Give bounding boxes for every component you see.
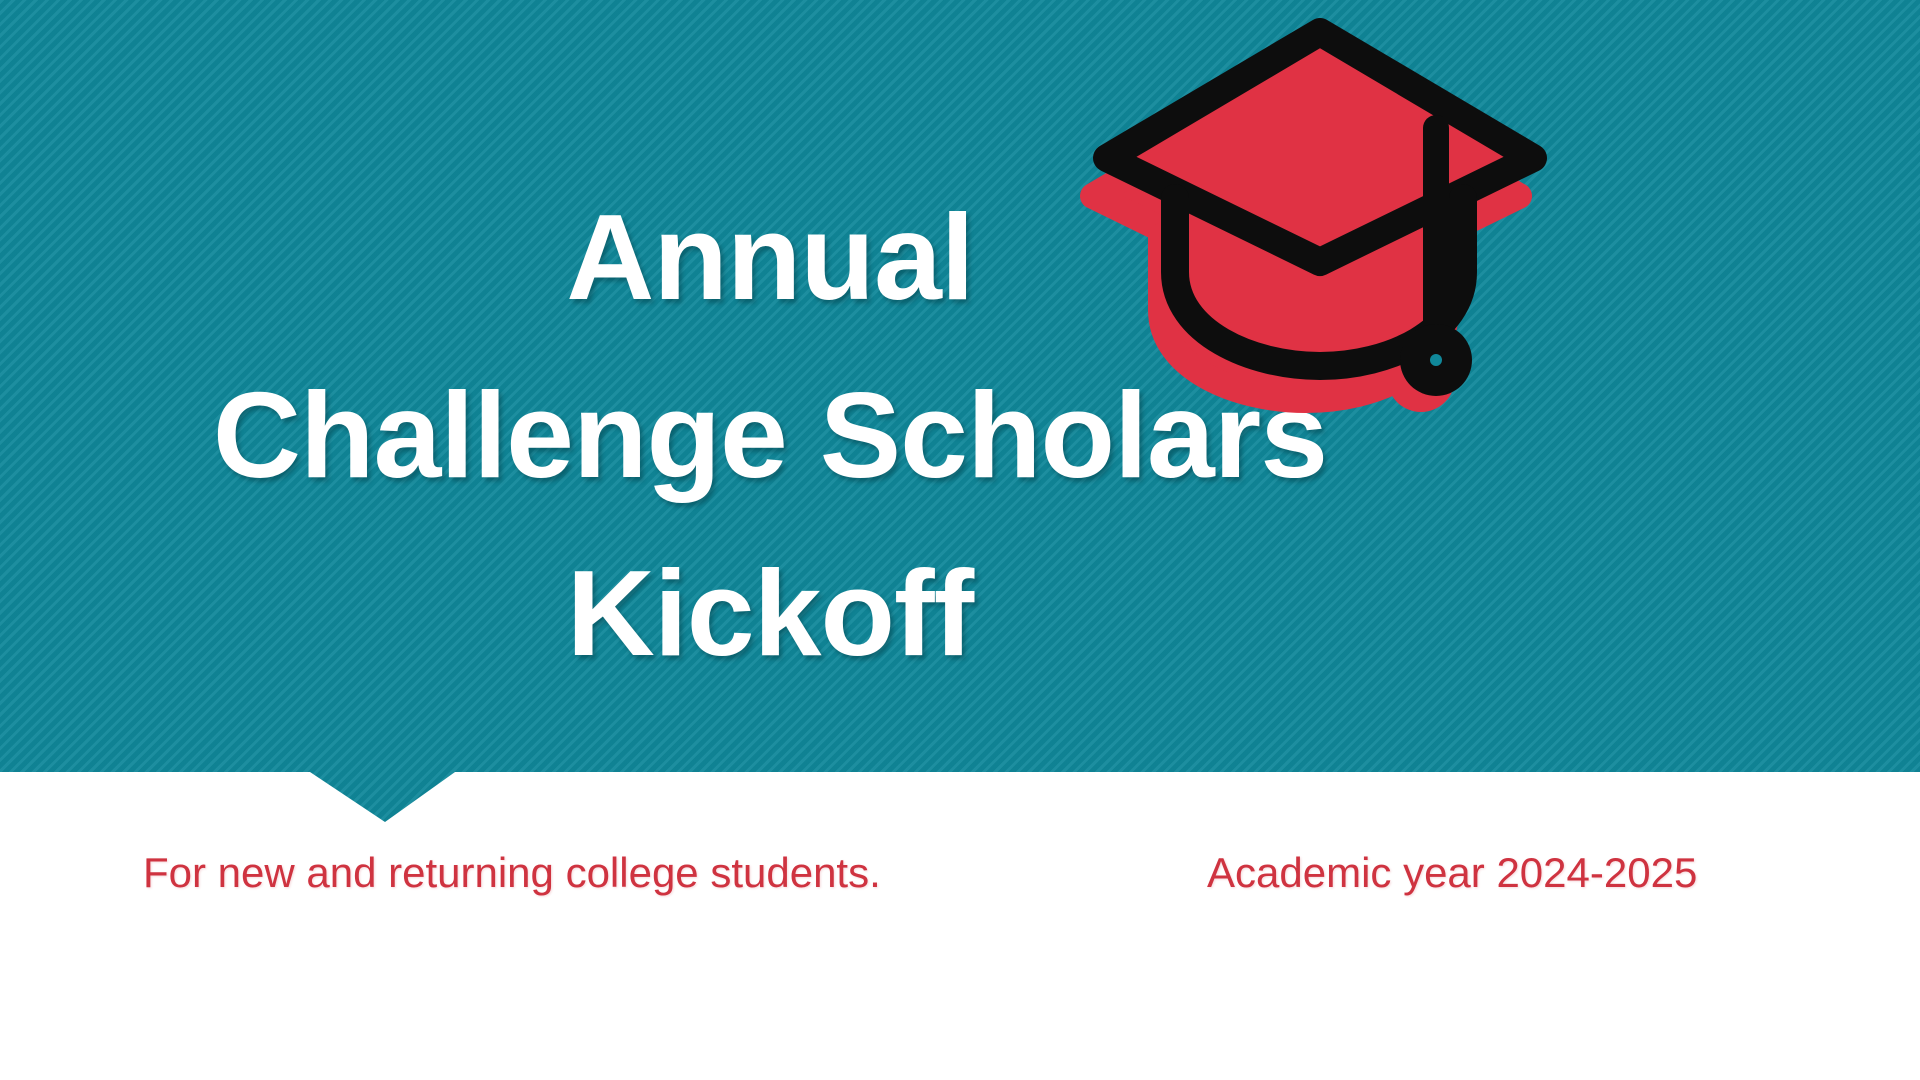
presentation-slide: Annual Challenge Scholars Kickoff For ne… <box>0 0 1920 1080</box>
caption-academic-year: Academic year 2024-2025 <box>1207 845 1697 901</box>
caption-row: For new and returning college students. … <box>0 845 1920 925</box>
caption-audience: For new and returning college students. <box>143 845 881 901</box>
graduation-cap-icon <box>1055 10 1555 440</box>
